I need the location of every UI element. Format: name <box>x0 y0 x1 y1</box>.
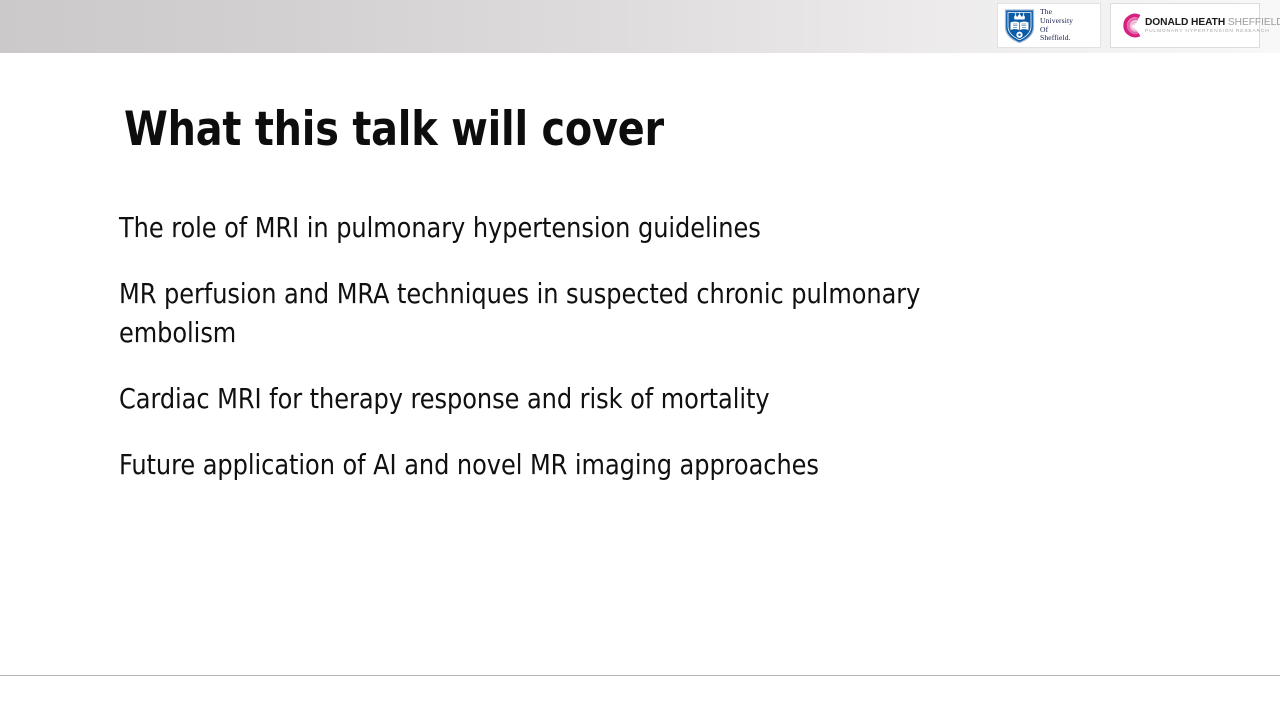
logo-strip: The University Of Sheffield. DONALD HEAT… <box>997 3 1260 48</box>
slide-title: What this talk will cover <box>124 99 664 161</box>
donald-heath-name: DONALD HEATH <box>1145 17 1225 28</box>
donald-heath-location: SHEFFIELD <box>1228 17 1280 28</box>
donald-heath-tagline: PULMONARY HYPERTENSION RESEARCH <box>1145 29 1280 34</box>
university-wordmark: The University Of Sheffield. <box>1040 8 1073 42</box>
donald-heath-logo: DONALD HEATH SHEFFIELD PULMONARY HYPERTE… <box>1110 3 1260 48</box>
sheffield-shield-icon <box>1004 8 1035 44</box>
slide-body: The role of MRI in pulmonary hypertensio… <box>119 208 1079 484</box>
slide: The University Of Sheffield. DONALD HEAT… <box>0 0 1280 720</box>
bullet-line: MR perfusion and MRA techniques in suspe… <box>119 274 1036 352</box>
footer-divider <box>0 675 1280 676</box>
university-of-sheffield-logo: The University Of Sheffield. <box>997 3 1101 48</box>
donald-heath-spiral-icon <box>1117 12 1144 39</box>
bullet-line: Cardiac MRI for therapy response and ris… <box>119 379 1036 418</box>
donald-heath-text: DONALD HEATH SHEFFIELD PULMONARY HYPERTE… <box>1145 17 1280 35</box>
donald-heath-title: DONALD HEATH SHEFFIELD <box>1145 17 1280 28</box>
university-wordmark-line-4: Sheffield. <box>1040 34 1073 43</box>
bullet-line: Future application of AI and novel MR im… <box>119 445 1036 484</box>
bullet-line: The role of MRI in pulmonary hypertensio… <box>119 208 1036 247</box>
